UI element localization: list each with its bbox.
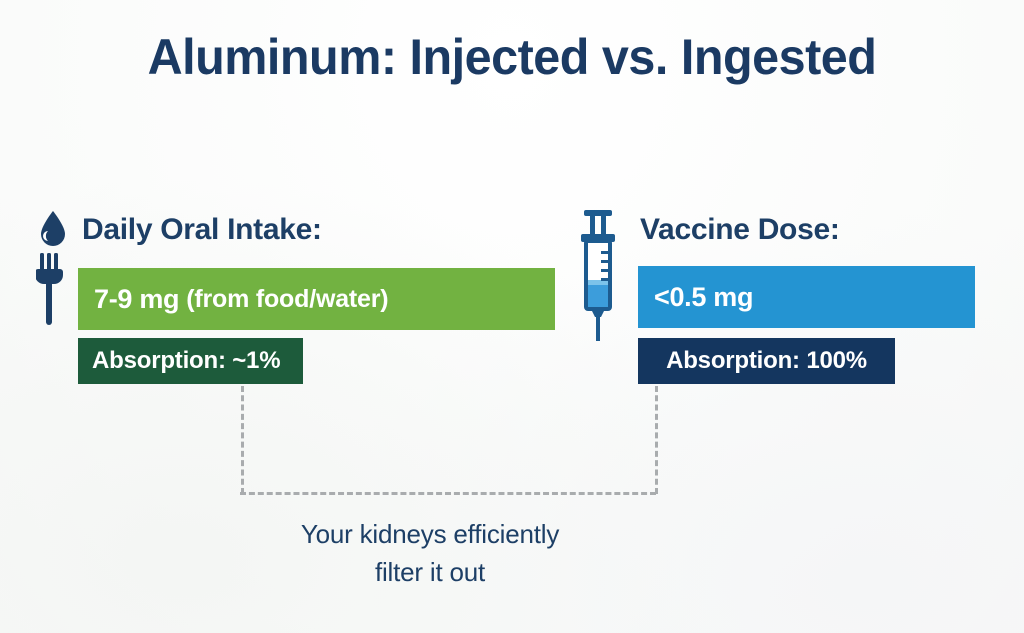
oral-dose-bar: 7-9 mg (from food/water) bbox=[78, 268, 555, 330]
oral-absorption-label: Absorption: ~1% bbox=[92, 347, 280, 375]
vaccine-absorption-label: Absorption: 100% bbox=[666, 347, 867, 375]
oral-dose-source: (from food/water) bbox=[186, 285, 388, 314]
connector-line-right bbox=[655, 386, 658, 494]
connector-line-left bbox=[241, 386, 244, 494]
connector-line-horizontal bbox=[240, 492, 656, 495]
infographic-canvas: Aluminum: Injected vs. Ingested Daily Or… bbox=[0, 0, 1024, 633]
kidney-caption-line2: filter it out bbox=[215, 553, 645, 591]
oral-dose-amount: 7-9 mg bbox=[94, 284, 179, 315]
kidney-caption: Your kidneys efficiently filter it out bbox=[215, 515, 645, 591]
water-drop-icon bbox=[39, 210, 67, 248]
vaccine-dose-amount: <0.5 mg bbox=[654, 282, 753, 313]
kidney-caption-line1: Your kidneys efficiently bbox=[215, 515, 645, 553]
vaccine-heading: Vaccine Dose: bbox=[640, 213, 840, 247]
page-title: Aluminum: Injected vs. Ingested bbox=[15, 28, 1008, 86]
syringe-icon bbox=[574, 208, 622, 342]
oral-absorption-bar: Absorption: ~1% bbox=[78, 338, 303, 384]
vaccine-absorption-bar: Absorption: 100% bbox=[638, 338, 895, 384]
vaccine-dose-bar: <0.5 mg bbox=[638, 266, 975, 328]
fork-icon bbox=[36, 252, 66, 326]
oral-heading: Daily Oral Intake: bbox=[82, 213, 322, 247]
